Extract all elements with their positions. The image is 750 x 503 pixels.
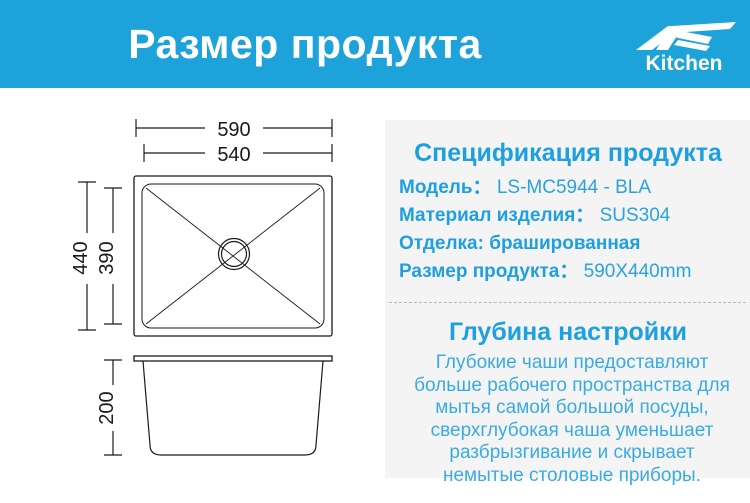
spec-value-model: LS-MC5944 - BLA [497,177,651,198]
page-title: Размер продукта [0,14,610,74]
spec-label-finish: Отделка: [399,233,484,254]
spec-label-size: Размер продукта： [399,261,578,282]
spec-label-model: Модель： [399,177,492,198]
spec-row-model: Модель： LS-MC5944 - BLA [399,175,651,200]
dimension-label-390: 390 [96,241,118,274]
spec-row-size: Размер продукта： 590X440mm [399,259,691,284]
dimension-label-440: 440 [70,241,92,274]
section-divider [389,302,746,303]
sink-side-bowl [143,361,323,455]
spec-label-material: Материал изделия： [399,205,594,226]
drawing-canvas: 590 540 440 390 [0,88,375,503]
header-banner: Размер продукта Kitchen [0,0,750,88]
spec-value-finish: брашированная [489,233,640,254]
spec-row-material: Материал изделия： SUS304 [399,203,670,228]
dimension-label-590: 590 [217,119,250,141]
sink-side-rim [134,356,332,361]
dimension-label-540: 540 [217,144,250,166]
spec-heading: Спецификация продукта [393,138,743,168]
depth-heading: Глубина настройки [393,316,743,348]
specification-panel: Спецификация продукта Модель： LS-MC5944 … [385,120,750,478]
drain-hole-icon [219,239,250,270]
depth-description: Глубокие чаши предоставляют больше рабоч… [407,352,737,487]
brand-name: Kitchen [628,51,740,77]
dimension-label-200: 200 [96,391,118,424]
spec-value-size: 590X440mm [584,261,692,282]
technical-drawing: 590 540 440 390 [0,88,375,503]
kitchen-k-logo-icon [634,18,738,54]
spec-row-finish: Отделка: брашированная [399,231,640,256]
spec-value-material: SUS304 [600,205,671,226]
bowl-slope-diagonals [146,188,320,324]
brand-logo: Kitchen [628,18,740,80]
